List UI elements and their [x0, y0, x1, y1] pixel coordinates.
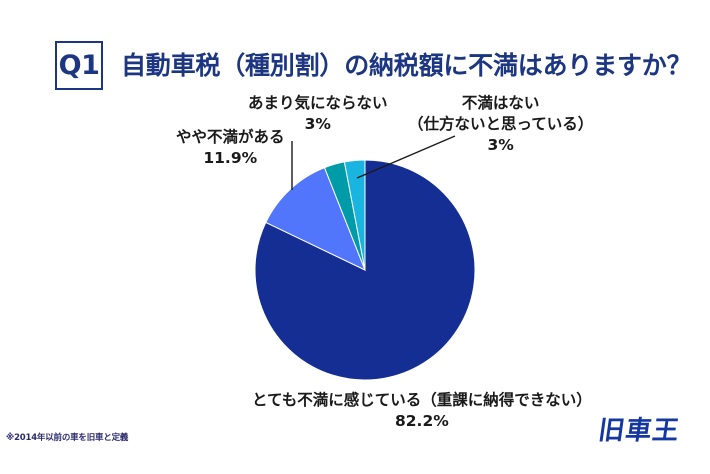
pie-slice-3 [344, 160, 365, 270]
slice-label-no-complaint-pct: 3% [408, 135, 593, 156]
slice-label-not-bothered-name: あまり気にならない [248, 94, 388, 112]
footnote: ※2014年以前の車を旧車と定義 [6, 431, 128, 443]
slice-label-very-dissatisfied: とても不満に感じている（重課に納得できない） 82.2% [252, 390, 592, 432]
pie-slice-1 [266, 168, 365, 270]
brand-logo: 旧車王 [583, 413, 695, 449]
slice-label-very-dissatisfied-pct: 82.2% [252, 411, 592, 432]
slice-label-very-dissatisfied-name: とても不満に感じている（重課に納得できない） [252, 391, 592, 409]
slide-root: Q1 自動車税（種別割）の納税額に不満はありますか？ やや不満がある 11.9%… [0, 0, 710, 474]
question-header: Q1 自動車税（種別割）の納税額に不満はありますか？ [55, 41, 691, 90]
slice-label-no-complaint-line2: （仕方ないと思っている） [408, 114, 593, 135]
slice-label-not-bothered: あまり気にならない 3% [248, 93, 388, 135]
slice-label-somewhat-dissatisfied-pct: 11.9% [176, 148, 285, 169]
slice-label-not-bothered-pct: 3% [248, 114, 388, 135]
pie-slice-0 [255, 160, 475, 380]
pie-slice-group [255, 160, 475, 380]
pie-slice-2 [325, 162, 365, 270]
slice-label-no-complaint: 不満はない （仕方ないと思っている） 3% [408, 93, 593, 156]
brand-logo-text: 旧車王 [580, 413, 697, 449]
question-number-badge: Q1 [55, 41, 103, 90]
slice-label-no-complaint-line1: 不満はない [462, 94, 540, 112]
page-title: 自動車税（種別割）の納税額に不満はありますか？ [121, 53, 691, 78]
